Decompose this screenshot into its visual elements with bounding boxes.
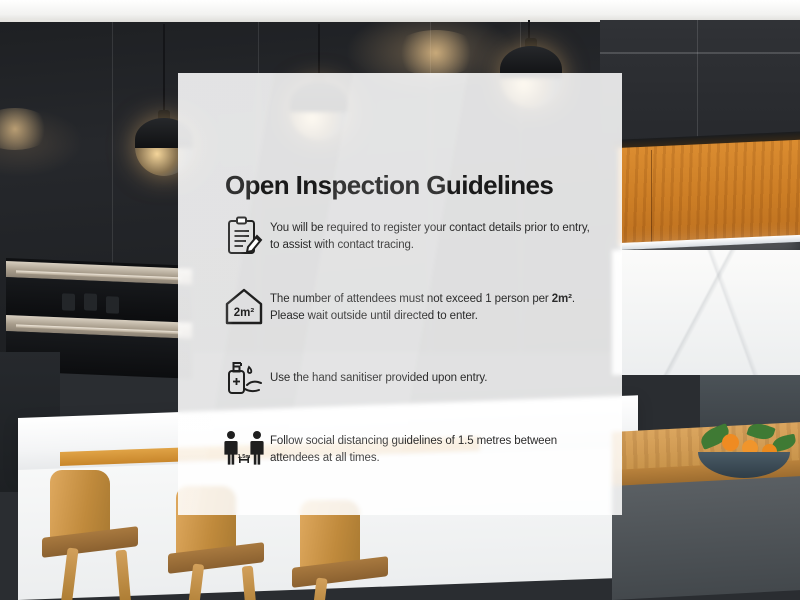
orange-fruit [722,434,739,451]
reflected-pot [84,293,97,311]
svg-text:2m²: 2m² [234,307,255,319]
list-item: You will be required to register your co… [218,214,596,266]
counter-base-cabinet [612,476,800,600]
list-item-text: Follow social distancing guidelines of 1… [270,427,596,468]
text-segment-a: The number of attendees must not exceed … [270,293,552,305]
house-area-icon: 2m² [218,285,270,327]
svg-text:1.5m: 1.5m [238,454,251,460]
social-distancing-icon: 1.5m [218,427,270,469]
reflected-pot [62,293,75,311]
guidelines-panel: Open Inspection Guidelines You will be r… [178,73,622,515]
wood-panel-cabinet [618,140,800,246]
text-segment-b: 2m² [552,293,572,305]
list-item: 1.5m Follow social distancing guidelines… [218,427,596,479]
page-title: Open Inspection Guidelines [225,170,595,201]
list-item: Use the hand sanitiser provided upon ent… [218,356,596,408]
ceiling-spotlight-glow [392,30,480,76]
reflected-pot [106,296,119,314]
cabinet-seam [651,150,652,246]
hand-sanitiser-icon [218,356,270,398]
text-segment-a: Follow social distancing guidelines of 1… [270,435,557,464]
clipboard-pencil-icon [218,214,270,258]
pendant-cord [163,24,165,120]
list-item-text: The number of attendees must not exceed … [270,285,596,326]
text-segment-a: Use the hand sanitiser provided upon ent… [270,372,487,384]
marble-splashback [612,250,800,375]
list-item-text: Use the hand sanitiser provided upon ent… [270,356,596,387]
text-segment-a: You will be required to register your co… [270,222,590,251]
list-item: 2m² The number of attendees must not exc… [218,285,596,337]
guidelines-list: You will be required to register your co… [218,214,596,498]
list-item-text: You will be required to register your co… [270,214,596,255]
